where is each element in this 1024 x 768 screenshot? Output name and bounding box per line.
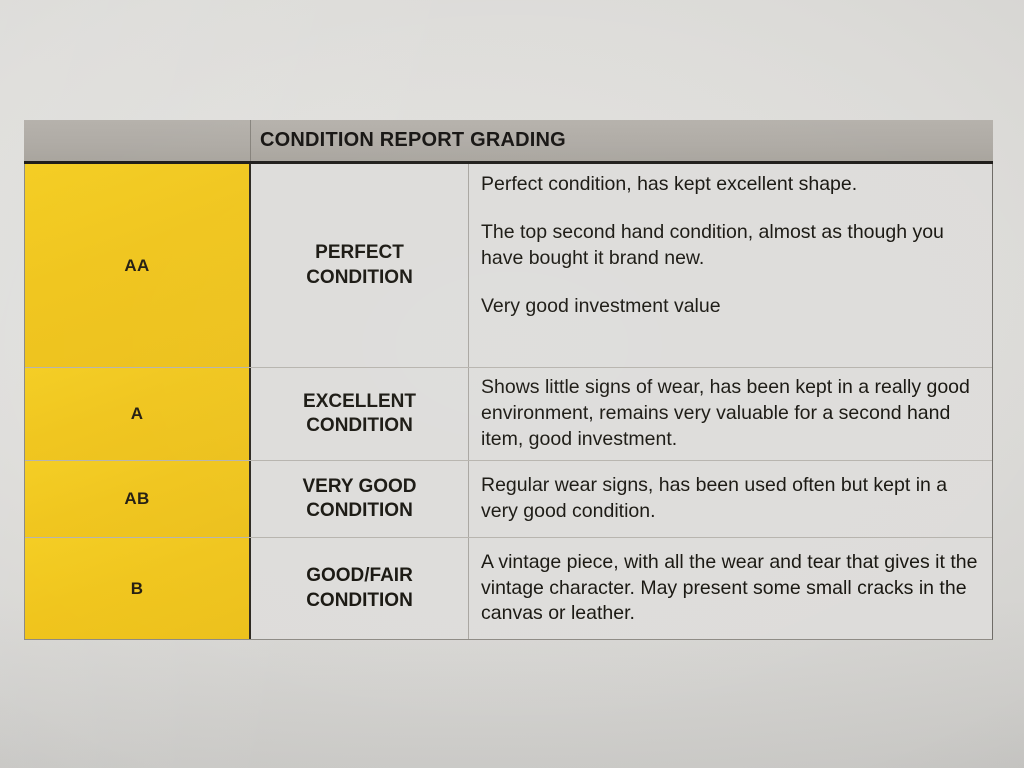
description-paragraph: Perfect condition, has kept excellent sh… <box>481 172 978 198</box>
grade-description-cell: Perfect condition, has kept excellent sh… <box>469 164 992 367</box>
description-paragraph: Regular wear signs, has been used often … <box>481 473 978 525</box>
table-body: AA PERFECT CONDITION Perfect condition, … <box>24 164 993 640</box>
grade-name-line-1: EXCELLENT <box>303 390 416 414</box>
description-paragraph: Shows little signs of wear, has been kep… <box>481 375 978 453</box>
grade-name-line-2: CONDITION <box>306 499 413 523</box>
grade-name-cell: GOOD/FAIR CONDITION <box>251 538 469 639</box>
condition-report-grading-table: CONDITION REPORT GRADING AA PERFECT COND… <box>24 120 993 640</box>
grade-name-line-1: GOOD/FAIR <box>306 564 413 588</box>
grade-code-cell: AA <box>25 164 251 367</box>
grade-name-line-2: CONDITION <box>306 589 413 613</box>
table-row: B GOOD/FAIR CONDITION A vintage piece, w… <box>25 538 992 639</box>
grade-name-line-1: VERY GOOD <box>302 475 416 499</box>
grade-name-cell: PERFECT CONDITION <box>251 164 469 367</box>
grade-name-cell: VERY GOOD CONDITION <box>251 461 469 537</box>
header-column-divider <box>250 120 251 161</box>
grade-description-cell: A vintage piece, with all the wear and t… <box>469 538 992 639</box>
description-paragraph: Very good investment value <box>481 294 978 320</box>
grade-name-line-2: CONDITION <box>306 414 413 438</box>
table-row: AA PERFECT CONDITION Perfect condition, … <box>25 164 992 368</box>
table-header-row: CONDITION REPORT GRADING <box>24 120 993 164</box>
grade-code-cell: AB <box>25 461 251 537</box>
description-paragraph: The top second hand condition, almost as… <box>481 220 978 272</box>
grade-description-cell: Shows little signs of wear, has been kep… <box>469 368 992 460</box>
grade-code-cell: B <box>25 538 251 639</box>
grade-description-cell: Regular wear signs, has been used often … <box>469 461 992 537</box>
grade-name-line-1: PERFECT <box>315 241 404 265</box>
description-paragraph: A vintage piece, with all the wear and t… <box>481 550 978 628</box>
grade-code-cell: A <box>25 368 251 460</box>
grade-name-cell: EXCELLENT CONDITION <box>251 368 469 460</box>
table-title: CONDITION REPORT GRADING <box>260 129 566 152</box>
table-row: AB VERY GOOD CONDITION Regular wear sign… <box>25 461 992 538</box>
table-row: A EXCELLENT CONDITION Shows little signs… <box>25 368 992 461</box>
grade-name-line-2: CONDITION <box>306 266 413 290</box>
